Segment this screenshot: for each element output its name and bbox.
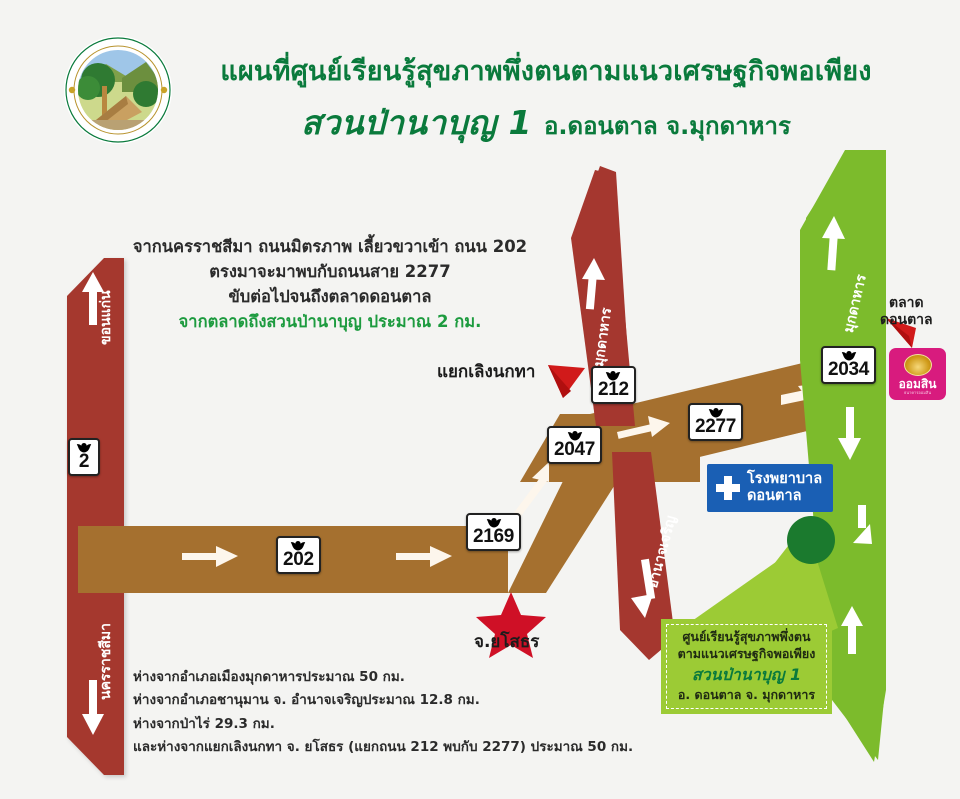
route-shield-2277: 2277 <box>688 403 743 441</box>
infobox-location: อ. ดอนตาล จ. มุกดาหาร <box>678 687 815 704</box>
bank-name: ออมสิน <box>899 378 937 390</box>
hospital-cross-icon <box>716 476 740 500</box>
directions-text: จากนครราชสีมา ถนนมิตรภาพ เลี้ยวขวาเข้า ถ… <box>104 234 556 334</box>
page-title: แผนที่ศูนย์เรียนรู้สุขภาพพึ่งตนตามแนวเศร… <box>176 56 916 88</box>
directions-line-2: ตรงมาจะมาพบกับถนนสาย 2277 <box>104 259 556 284</box>
site-location: อ.ดอนตาล จ.มุกดาหาร <box>544 112 791 140</box>
hospital-sign: โรงพยาบาล ดอนตาล <box>707 464 833 512</box>
route-shield-212-number: 212 <box>598 380 629 399</box>
road-label-khon-kaen: ขอนแก่น <box>95 290 117 345</box>
bank-tagline: ธนาคารออมสิน <box>904 391 931 395</box>
distance-notes: ห่างจากอำเภอเมืองมุกดาหารประมาณ 50 กม. ห… <box>133 666 653 759</box>
road-label-nakhon-ratchasima: นครราชสีมา <box>95 623 117 700</box>
destination-marker-dot <box>787 516 835 564</box>
hospital-label: โรงพยาบาล ดอนตาล <box>747 471 822 505</box>
route-shield-2277-number: 2277 <box>695 417 736 436</box>
infobox-line-1: ศูนย์เรียนรู้สุขภาพพึ่งตน <box>682 629 810 646</box>
route-shield-2047: 2047 <box>547 426 602 464</box>
note-line-3: ห่างจากป่าไร่ 29.3 กม. <box>133 713 653 736</box>
note-line-4: และห่างจากแยกเลิงนกทา จ. ยโสธร (แยกถนน 2… <box>133 736 653 759</box>
infobox-site-name: สวนป่านาบุญ 1 <box>692 664 801 686</box>
route-shield-2034-number: 2034 <box>828 360 869 379</box>
market-line-1: ตลาด <box>880 295 933 312</box>
market-line-2: ดอนตาล <box>880 312 933 329</box>
infobox-line-2: ตามแนวเศรษฐกิจพอเพียง <box>678 646 816 663</box>
route-shield-2169-number: 2169 <box>473 527 514 546</box>
gsb-bank-sign: ออมสิน ธนาคารออมสิน <box>889 348 946 400</box>
route-shield-2047-number: 2047 <box>554 440 595 459</box>
label-loeng-nok-tha-junction: แยกเลิงนกทา <box>437 358 535 385</box>
note-line-2: ห่างจากอำเภอชานุมาน จ. อำนาจเจริญประมาณ … <box>133 689 653 712</box>
hospital-line-1: โรงพยาบาล <box>747 471 822 488</box>
directions-line-3: ขับต่อไปจนถึงตลาดดอนตาล <box>104 284 556 309</box>
map-infographic: แผนที่ศูนย์เรียนรู้สุขภาพพึ่งตนตามแนวเศร… <box>0 0 960 799</box>
junction-arrow-icon <box>548 365 585 398</box>
label-yasothon-province: จ.ยโสธร <box>474 628 539 655</box>
label-don-tan-market: ตลาด ดอนตาล <box>880 295 933 329</box>
hospital-line-2: ดอนตาล <box>747 488 822 505</box>
title-block: แผนที่ศูนย์เรียนรู้สุขภาพพึ่งตนตามแนวเศร… <box>176 56 916 149</box>
route-shield-212: 212 <box>591 366 636 404</box>
route-shield-2034: 2034 <box>821 346 876 384</box>
header: แผนที่ศูนย์เรียนรู้สุขภาพพึ่งตนตามแนวเศร… <box>0 22 960 142</box>
route-shield-202-number: 202 <box>283 550 314 569</box>
route-shield-202: 202 <box>276 536 321 574</box>
destination-info-box: ศูนย์เรียนรู้สุขภาพพึ่งตน ตามแนวเศรษฐกิจ… <box>661 619 832 714</box>
route-shield-2-number: 2 <box>79 452 89 471</box>
site-name: สวนป่านาบุญ 1 <box>301 103 532 142</box>
subtitle-block: สวนป่านาบุญ 1อ.ดอนตาล จ.มุกดาหาร <box>176 96 916 149</box>
directions-line-4: จากตลาดถึงสวนป่านาบุญ ประมาณ 2 กม. <box>104 309 556 334</box>
gsb-emblem-icon <box>904 354 932 376</box>
note-line-1: ห่างจากอำเภอเมืองมุกดาหารประมาณ 50 กม. <box>133 666 653 689</box>
route-shield-2169: 2169 <box>466 513 521 551</box>
directions-line-1: จากนครราชสีมา ถนนมิตรภาพ เลี้ยวขวาเข้า ถ… <box>104 234 556 259</box>
route-shield-2: 2 <box>68 438 100 476</box>
